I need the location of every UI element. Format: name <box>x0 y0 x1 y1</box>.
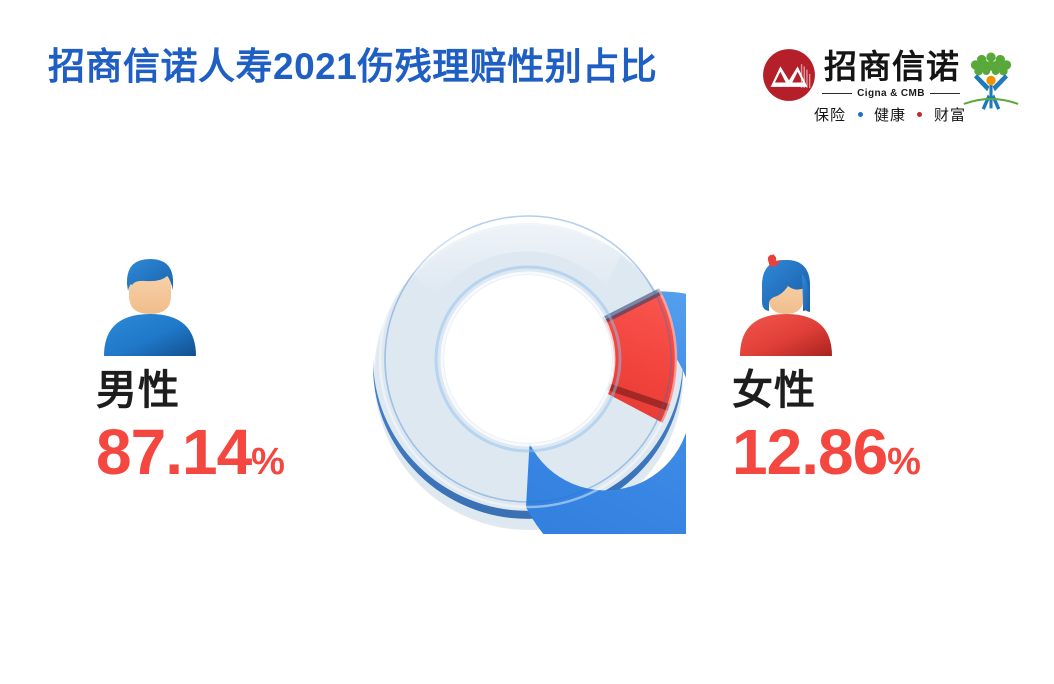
stat-female-percent-sign: % <box>887 441 921 483</box>
stat-male-number: 87.14 <box>96 416 251 488</box>
stat-female-value: 12.86% <box>732 416 1032 506</box>
logo-subtext-row: Cigna & CMB <box>822 88 960 99</box>
cmb-circle-m-logo-icon <box>762 48 816 102</box>
male-person-icon <box>96 252 204 364</box>
male-body <box>104 314 196 356</box>
tagline-dot-red-icon <box>917 112 922 117</box>
infographic-canvas: 招商信诺人寿2021伤残理赔性别占比 <box>0 0 1054 684</box>
page-title: 招商信诺人寿2021伤残理赔性别占比 <box>48 44 657 90</box>
logo-rule-right <box>930 93 960 94</box>
stat-male-label: 男性 <box>96 366 396 414</box>
donut-chart-svg <box>370 200 686 534</box>
logo-tagline-insurance: 保险 <box>814 104 846 125</box>
donut-chart <box>370 200 686 534</box>
brand-logo: 招商信诺 Cigna & CMB 保险 健康 财富 <box>762 44 1024 136</box>
stat-male-percent-sign: % <box>251 441 285 483</box>
logo-tagline: 保险 健康 财富 <box>814 104 966 125</box>
logo-rule-left <box>822 93 852 94</box>
stat-male-value: 87.14% <box>96 416 396 506</box>
stat-female-label: 女性 <box>732 366 1032 414</box>
stat-female: 女性 12.86% <box>732 252 1032 506</box>
female-person-icon <box>732 252 840 364</box>
logo-subtext: Cigna & CMB <box>857 88 925 99</box>
stat-male: 男性 87.14% <box>96 252 396 506</box>
tagline-dot-blue-icon <box>858 112 863 117</box>
green-tree-person-icon <box>960 46 1022 118</box>
logo-tagline-health: 健康 <box>874 104 906 125</box>
logo-wordmark: 招商信诺 <box>824 48 960 86</box>
stat-female-number: 12.86 <box>732 416 887 488</box>
female-body <box>740 314 832 356</box>
